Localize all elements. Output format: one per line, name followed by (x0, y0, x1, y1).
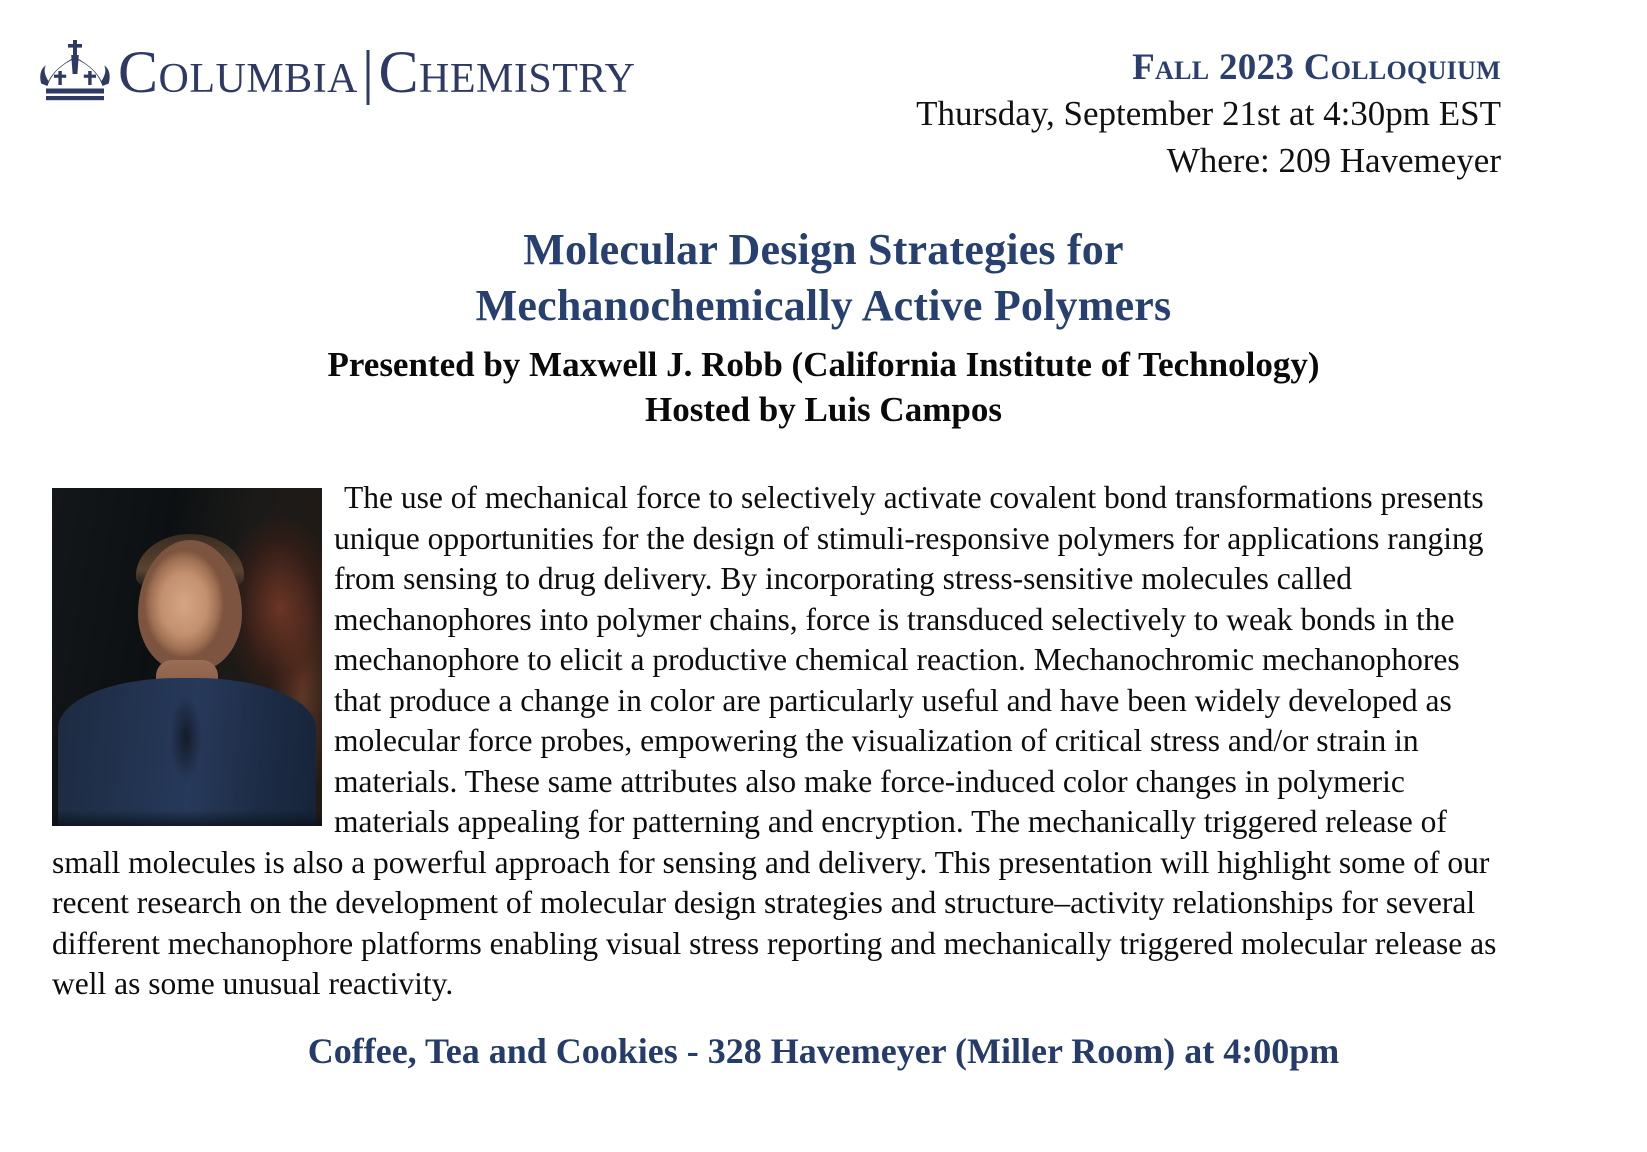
brand-wordmark: Columbia|Chemistry (118, 41, 635, 103)
refreshments-notice: Coffee, Tea and Cookies - 328 Havemeyer … (0, 1028, 1647, 1074)
event-location: Where: 209 Havemeyer (801, 137, 1501, 184)
brand-name-secondary: Chemistry (379, 39, 636, 105)
columbia-crown-icon (38, 40, 112, 104)
talk-title-line-2: Mechanochemically Active Polymers (0, 278, 1647, 334)
abstract-block: The use of mechanical force to selective… (52, 478, 1505, 1005)
event-meta-block: Fall 2023 Colloquium Thursday, September… (801, 46, 1501, 184)
brand-name-primary: Columbia (118, 39, 358, 105)
event-date-time: Thursday, September 21st at 4:30pm EST (801, 90, 1501, 137)
brand-divider: | (358, 41, 379, 103)
poster-header: Columbia|Chemistry Fall 2023 Colloquium … (0, 0, 1647, 200)
colloquium-series-label: Fall 2023 Colloquium (801, 46, 1501, 90)
columbia-chemistry-logo: Columbia|Chemistry (38, 33, 635, 111)
poster-footer: Coffee, Tea and Cookies - 328 Havemeyer … (0, 1028, 1647, 1074)
photo-shirt (58, 678, 316, 826)
talk-title-block: Molecular Design Strategies for Mechanoc… (0, 222, 1647, 432)
talk-host: Hosted by Luis Campos (0, 387, 1647, 432)
talk-presenter: Presented by Maxwell J. Robb (California… (0, 342, 1647, 387)
speaker-photo (52, 488, 322, 826)
talk-title-line-1: Molecular Design Strategies for (0, 222, 1647, 278)
photo-vignette (52, 810, 322, 826)
